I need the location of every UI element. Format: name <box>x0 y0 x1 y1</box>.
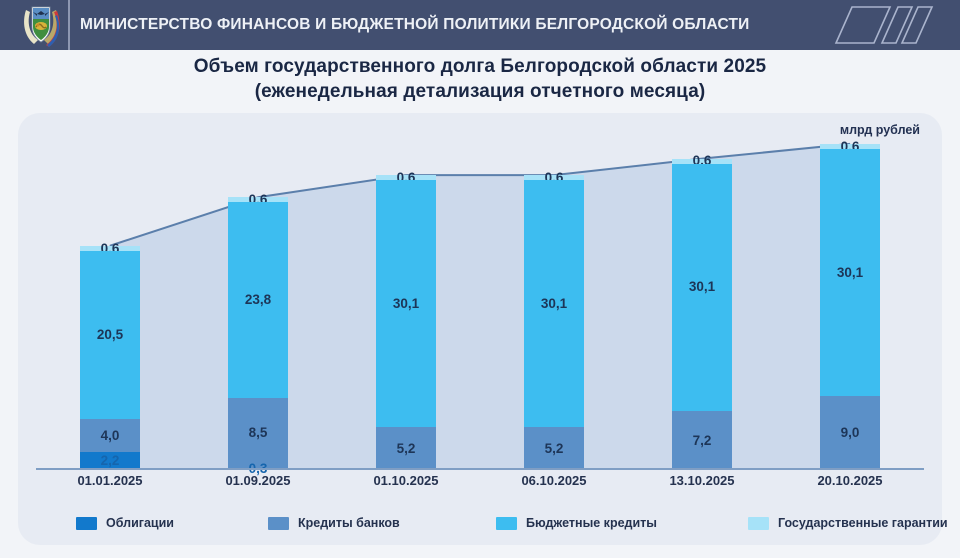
bar-segment[interactable]: 7,2 <box>672 411 732 470</box>
bar-segment-label: 30,1 <box>837 266 863 280</box>
legend-item[interactable]: Государственные гарантии <box>748 513 948 533</box>
bar-segment-label: 9,0 <box>841 426 860 440</box>
header-divider <box>68 0 70 50</box>
belgorod-coat-of-arms-icon <box>18 4 64 48</box>
bar-segment[interactable]: 30,1 <box>376 180 436 427</box>
bar-segment[interactable]: 5,2 <box>524 427 584 470</box>
legend-item[interactable]: Облигации <box>76 513 174 533</box>
bar-group[interactable]: 0,630,15,2 <box>376 175 436 470</box>
bar-segment-label: 5,2 <box>545 442 564 456</box>
x-axis-tick-label: 01.09.2025 <box>178 473 338 488</box>
x-axis-tick-label: 13.10.2025 <box>622 473 782 488</box>
x-axis-line <box>36 468 924 470</box>
bar-group[interactable]: 0,630,15,2 <box>524 175 584 470</box>
bar-segment-label: 7,2 <box>693 434 712 448</box>
bar-segment-label: 30,1 <box>393 297 419 311</box>
x-axis-tick-label: 01.01.2025 <box>30 473 190 488</box>
bar-segment-label: 30,1 <box>689 280 715 294</box>
bar-series-container: 0,620,54,02,20,623,88,50,30,630,15,20,63… <box>36 125 924 470</box>
bar-segment-label: 8,5 <box>249 426 268 440</box>
legend-label: Бюджетные кредиты <box>526 516 657 530</box>
bar-group[interactable]: 0,623,88,50,3 <box>228 197 288 470</box>
x-axis-labels: 01.01.202501.09.202501.10.202506.10.2025… <box>36 473 924 493</box>
bar-segment[interactable]: 20,5 <box>80 251 140 419</box>
bar-group[interactable]: 0,620,54,02,2 <box>80 246 140 470</box>
bar-group[interactable]: 0,630,19,0 <box>820 144 880 470</box>
x-axis-tick-label: 06.10.2025 <box>474 473 634 488</box>
bar-segment-label: 20,5 <box>97 328 123 342</box>
app-header: МИНИСТЕРСТВО ФИНАНСОВ И БЮДЖЕТНОЙ ПОЛИТИ… <box>0 0 960 50</box>
chart-legend: ОблигацииКредиты банковБюджетные кредиты… <box>36 513 924 535</box>
legend-label: Облигации <box>106 516 174 530</box>
page-title: Объем государственного долга Белгородско… <box>0 54 960 104</box>
plot-area: 0,620,54,02,20,623,88,50,30,630,15,20,63… <box>36 125 924 470</box>
bar-segment[interactable]: 30,1 <box>524 180 584 427</box>
legend-color-swatch <box>76 517 97 530</box>
legend-label: Государственные гарантии <box>778 516 948 530</box>
bar-segment-label: 5,2 <box>397 442 416 456</box>
slanted-stripes-icon <box>832 3 942 47</box>
legend-color-swatch <box>268 517 289 530</box>
bar-segment[interactable]: 30,1 <box>672 164 732 411</box>
page-title-line1: Объем государственного долга Белгородско… <box>194 56 766 77</box>
bar-segment[interactable]: 4,0 <box>80 419 140 452</box>
bar-segment[interactable]: 5,2 <box>376 427 436 470</box>
bar-segment-label: 23,8 <box>245 293 271 307</box>
x-axis-tick-label: 01.10.2025 <box>326 473 486 488</box>
x-axis-tick-label: 20.10.2025 <box>770 473 930 488</box>
bar-segment[interactable]: 8,5 <box>228 398 288 468</box>
bar-segment[interactable]: 23,8 <box>228 202 288 398</box>
ministry-title: МИНИСТЕРСТВО ФИНАНСОВ И БЮДЖЕТНОЙ ПОЛИТИ… <box>80 0 750 50</box>
bar-segment-label: 4,0 <box>101 429 120 443</box>
page-title-line2: (еженедельная детализация отчетного меся… <box>0 79 960 104</box>
bar-segment[interactable]: 9,0 <box>820 396 880 470</box>
bar-segment-label: 2,2 <box>101 454 120 468</box>
legend-label: Кредиты банков <box>298 516 400 530</box>
legend-color-swatch <box>496 517 517 530</box>
legend-color-swatch <box>748 517 769 530</box>
bar-segment[interactable]: 30,1 <box>820 149 880 396</box>
chart-panel: млрд рублей 0,620,54,02,20,623,88,50,30,… <box>18 113 942 545</box>
legend-item[interactable]: Бюджетные кредиты <box>496 513 657 533</box>
bar-group[interactable]: 0,630,17,2 <box>672 159 732 470</box>
legend-item[interactable]: Кредиты банков <box>268 513 400 533</box>
bar-segment-label: 30,1 <box>541 297 567 311</box>
